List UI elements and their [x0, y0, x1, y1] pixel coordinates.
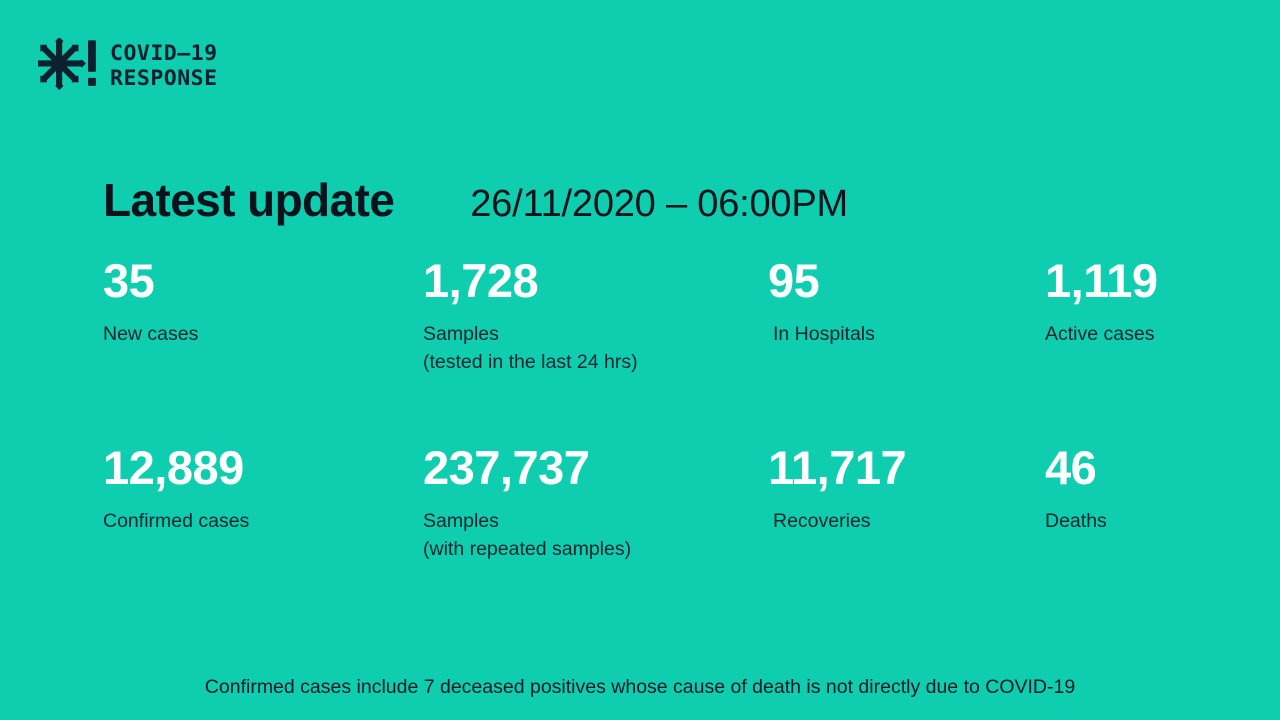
page-title: Latest update: [103, 173, 394, 227]
stat-value: 1,119: [1045, 256, 1158, 307]
stat-value: 12,889: [103, 443, 249, 494]
stat-new-cases: 35 New cases: [103, 256, 198, 348]
stat-value: 35: [103, 256, 198, 307]
stat-label: New cases: [103, 320, 198, 349]
stat-in-hospitals: 95 In Hospitals: [768, 256, 875, 348]
asterisk-exclamation-icon: [38, 38, 98, 96]
stat-samples-repeated: 237,737 Samples (with repeated samples): [423, 443, 631, 564]
stat-value: 46: [1045, 443, 1107, 494]
stat-active-cases: 1,119 Active cases: [1045, 256, 1158, 348]
brand-wordmark: COVID–19 RESPONSE: [110, 42, 218, 92]
stat-label: Recoveries: [768, 507, 906, 536]
stat-deaths: 46 Deaths: [1045, 443, 1107, 535]
stat-label: Samples: [423, 507, 631, 536]
brand-line-1: COVID–19: [110, 42, 218, 67]
headline: Latest update 26/11/2020 – 06:00PM: [103, 173, 848, 227]
brand-logo: COVID–19 RESPONSE: [38, 38, 218, 96]
stat-label: Deaths: [1045, 507, 1107, 536]
update-timestamp: 26/11/2020 – 06:00PM: [470, 183, 848, 226]
stat-sublabel: (tested in the last 24 hrs): [423, 348, 638, 377]
stat-value: 237,737: [423, 443, 631, 494]
footnote: Confirmed cases include 7 deceased posit…: [0, 676, 1280, 699]
stat-samples-24hrs: 1,728 Samples (tested in the last 24 hrs…: [423, 256, 638, 377]
stat-value: 11,717: [768, 443, 906, 494]
stat-label: Confirmed cases: [103, 507, 249, 536]
stat-sublabel: (with repeated samples): [423, 535, 631, 564]
brand-line-2: RESPONSE: [110, 67, 218, 92]
stat-label: Samples: [423, 320, 638, 349]
stat-value: 95: [768, 256, 875, 307]
stat-recoveries: 11,717 Recoveries: [768, 443, 906, 535]
stat-label: In Hospitals: [768, 320, 875, 349]
stat-confirmed-cases: 12,889 Confirmed cases: [103, 443, 249, 535]
stat-label: Active cases: [1045, 320, 1158, 349]
stat-value: 1,728: [423, 256, 638, 307]
